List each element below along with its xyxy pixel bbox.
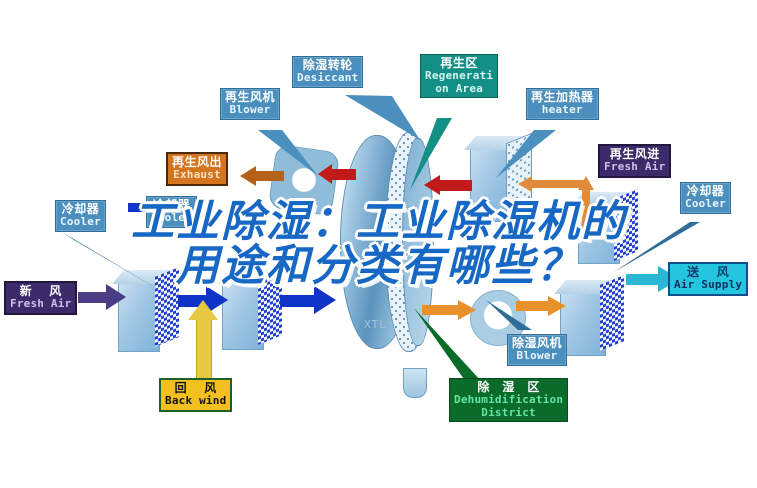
label-regeneration-area: 再生区 Regenerati on Area [420,54,498,98]
label-back-wind-cn: 回 风 [165,382,226,395]
label-regen-heater: 再生加热器 heater [526,88,599,120]
label-regen-blower: 再生风机 Blower [220,88,280,120]
label-cooler-left-cn: 冷却器 [60,203,101,216]
label-regeneration-area-en2: on Area [425,83,493,95]
label-dehumidification-district-cn: 除 湿 区 [454,381,563,394]
label-cooler-right-en: Cooler [685,198,726,210]
label-cooler-mid-en: Cooler [151,212,192,224]
label-regen-exhaust-en: Exhaust [172,169,222,181]
label-regen-fresh-air-en: Fresh Air [604,161,665,173]
label-cooler-mid-cn: 冷却器 [151,199,192,212]
label-regen-exhaust-cn: 再生风出 [172,156,222,169]
label-dehumidification-district: 除 湿 区 Dehumidification District [449,378,568,422]
label-regen-fresh-air: 再生风进 Fresh Air [598,144,671,178]
label-desiccant-wheel-en: Desiccant [297,72,358,84]
label-regeneration-area-cn: 再生区 [425,57,493,70]
label-regen-heater-cn: 再生加热器 [531,91,594,104]
label-regen-exhaust: 再生风出 Exhaust [166,152,228,186]
label-desiccant-wheel-cn: 除湿转轮 [297,59,358,72]
label-cooler-right-cn: 冷却器 [685,185,726,198]
label-cooler-left-en: Cooler [60,216,101,228]
label-fresh-air-cn: 新 风 [10,285,71,298]
callout-leader-lines [0,0,757,488]
dehumidifier-diagram: XTL [0,0,757,488]
label-back-wind-en: Back wind [165,395,226,407]
label-regeneration-area-en1: Regenerati [425,70,493,82]
label-regen-blower-en: Blower [225,104,275,116]
label-desiccant-wheel: 除湿转轮 Desiccant [292,56,363,88]
label-air-supply-en: Air Supply [674,279,742,291]
label-dehumidification-district-en1: Dehumidification [454,394,563,406]
label-dehum-blower-en: Blower [512,350,562,362]
label-air-supply-cn: 送 风 [674,266,742,279]
label-regen-fresh-air-cn: 再生风进 [604,148,665,161]
label-fresh-air: 新 风 Fresh Air [4,281,77,315]
label-air-supply: 送 风 Air Supply [668,262,748,296]
label-regen-heater-en: heater [531,104,594,116]
label-cooler-right: 冷却器 Cooler [680,182,731,214]
label-fresh-air-en: Fresh Air [10,298,71,310]
label-cooler-mid: 冷却器 Cooler [146,196,197,228]
label-regen-blower-cn: 再生风机 [225,91,275,104]
label-cooler-left: 冷却器 Cooler [55,200,106,232]
label-back-wind: 回 风 Back wind [159,378,232,412]
label-dehum-blower-cn: 除湿风机 [512,337,562,350]
label-dehum-blower: 除湿风机 Blower [507,334,567,366]
label-dehumidification-district-en2: District [454,407,563,419]
